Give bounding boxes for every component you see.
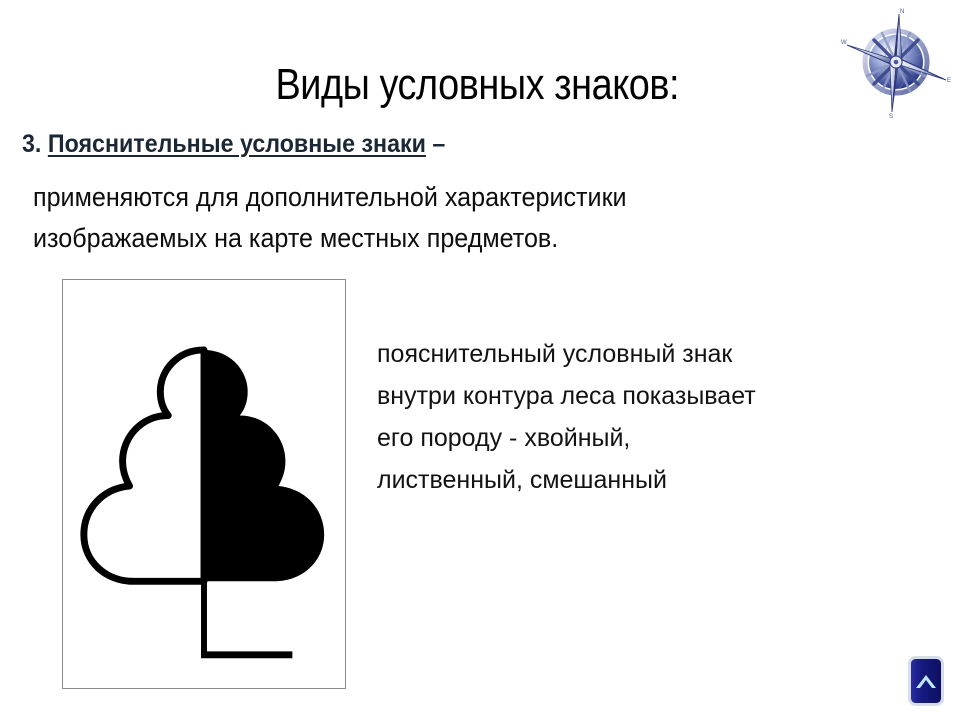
svg-text:W: W: [841, 40, 847, 46]
figure-caption: пояснительный условный знак внутри конту…: [377, 333, 897, 501]
svg-text:N: N: [900, 9, 904, 15]
next-slide-button[interactable]: [908, 656, 944, 706]
slide-canvas: N E S W Виды условных знаков: 3. Пояснит…: [0, 0, 960, 720]
caption-line-2: внутри контура леса показывает: [377, 375, 897, 417]
subtitle-dash: –: [432, 130, 445, 158]
caption-line-4: лиственный, смешанный: [377, 459, 897, 501]
figure-frame: [62, 279, 346, 689]
body-line-1: применяются для дополнительной характери…: [33, 177, 833, 218]
svg-text:S: S: [889, 114, 893, 120]
slide-title: Виды условных знаков:: [65, 58, 891, 112]
subtitle-line: 3. Пояснительные условные знаки –: [22, 128, 445, 160]
subtitle-number: 3.: [22, 130, 41, 158]
caption-line-1: пояснительный условный знак: [377, 333, 897, 375]
body-paragraph: применяются для дополнительной характери…: [33, 177, 833, 259]
subtitle-term: Пояснительные условные знаки: [48, 130, 426, 158]
caption-line-3: его породу - хвойный,: [377, 417, 897, 459]
body-line-2: изображаемых на карте местных предметов.: [33, 218, 833, 259]
mixed-forest-map-symbol: [63, 280, 345, 688]
svg-text:E: E: [947, 78, 951, 84]
